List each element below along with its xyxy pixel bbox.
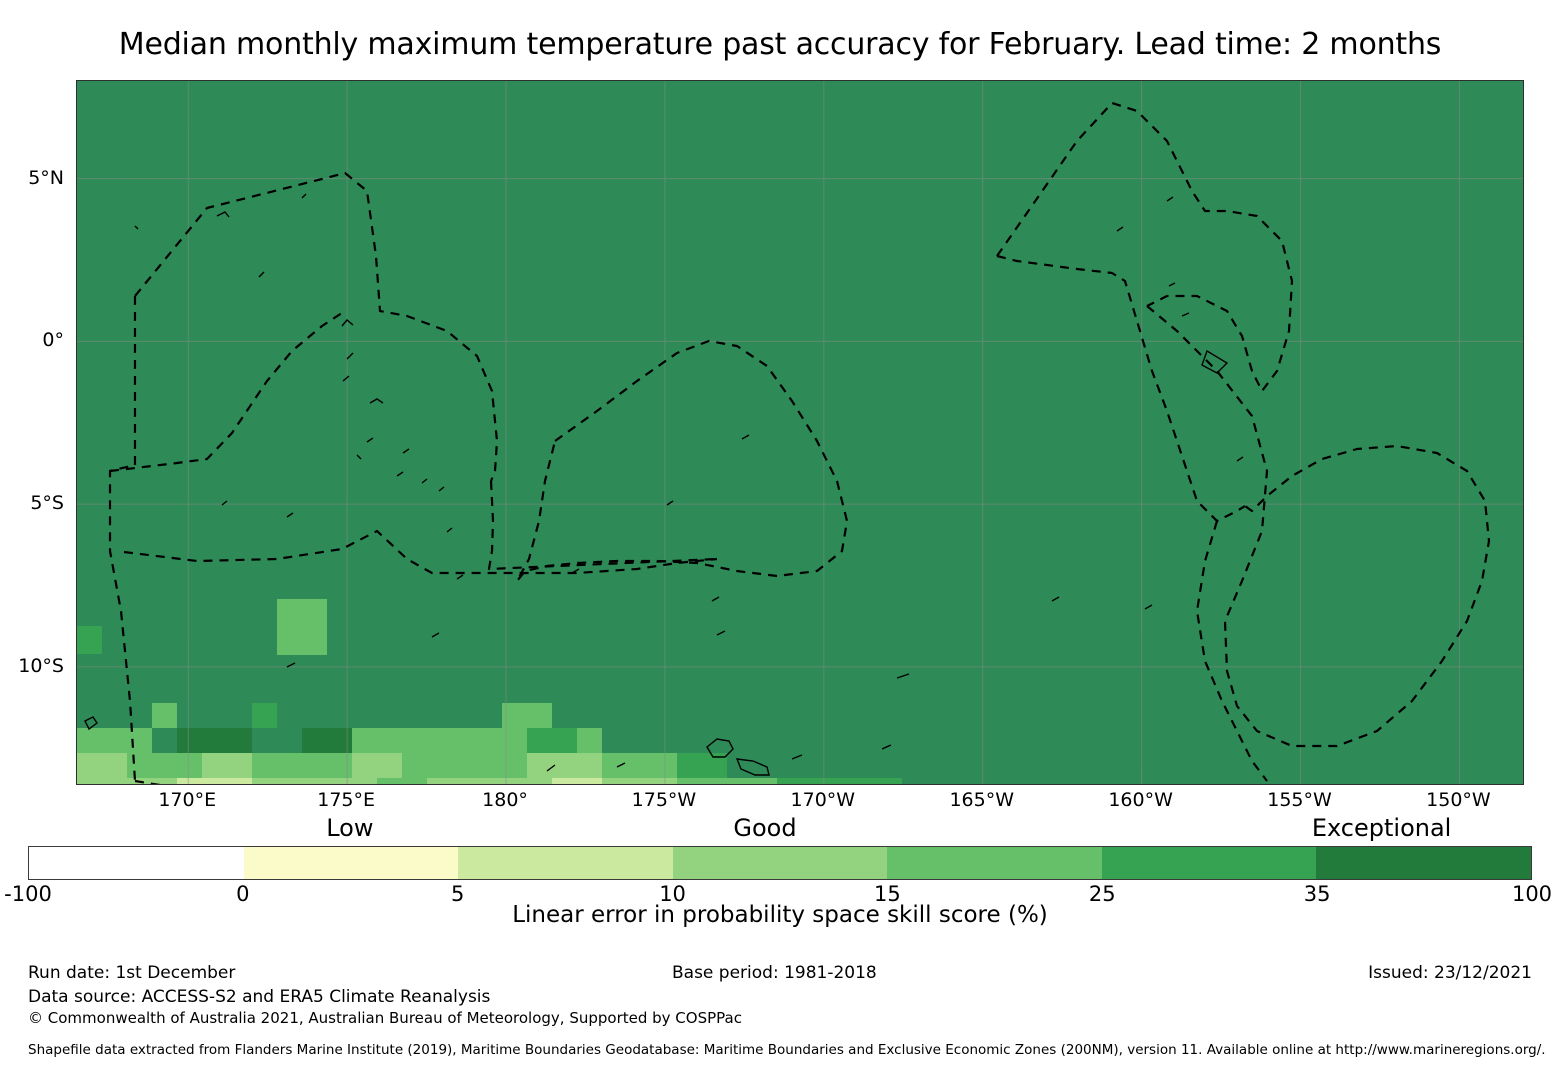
heatmap-cell xyxy=(127,753,202,778)
data-source-text: Data source: ACCESS-S2 and ERA5 Climate … xyxy=(28,987,490,1007)
longitude-tick-label: 160°W xyxy=(1108,789,1173,811)
longitude-tick-label: 150°W xyxy=(1426,789,1491,811)
latitude-tick-label: 0° xyxy=(0,329,64,351)
latitude-tick-label: 5°S xyxy=(0,492,64,514)
heatmap-cell xyxy=(252,778,377,784)
heatmap-cell xyxy=(202,753,252,778)
heatmap-cell xyxy=(777,778,902,784)
colorbar-segment xyxy=(887,847,1102,879)
page-title: Median monthly maximum temperature past … xyxy=(0,27,1560,62)
heatmap-cell xyxy=(252,703,277,728)
base-period-text: Base period: 1981-2018 xyxy=(672,963,877,983)
heatmap-cell xyxy=(377,778,427,784)
longitude-tick-label: 165°W xyxy=(949,789,1014,811)
colorbar-segment xyxy=(29,847,244,879)
heatmap-cell xyxy=(352,753,402,778)
longitude-tick-label: 175°W xyxy=(632,789,697,811)
heatmap-cell xyxy=(677,778,777,784)
heatmap-cell xyxy=(277,599,327,655)
colorbar-segment xyxy=(244,847,459,879)
heatmap-cell xyxy=(352,728,527,753)
heatmap-cell xyxy=(552,778,602,784)
colorbar-category-label: Low xyxy=(326,814,373,842)
longitude-tick-label: 155°W xyxy=(1267,789,1332,811)
longitude-tick-label: 170°E xyxy=(158,789,216,811)
heatmap-cell xyxy=(77,626,102,654)
colorbar-axis-label: Linear error in probability space skill … xyxy=(0,902,1560,928)
shapefile-attribution-text: Shapefile data extracted from Flanders M… xyxy=(28,1042,1546,1058)
copyright-text: © Commonwealth of Australia 2021, Austra… xyxy=(28,1009,742,1027)
colorbar-category-label: Exceptional xyxy=(1312,814,1452,842)
colorbar-category-label: Good xyxy=(733,814,796,842)
heatmap-cell xyxy=(402,753,527,778)
colorbar-segment xyxy=(458,847,673,879)
latitude-tick-label: 10°S xyxy=(0,655,64,677)
colorbar-segment xyxy=(1316,847,1531,879)
colorbar[interactable] xyxy=(28,846,1532,880)
heatmap-cell xyxy=(602,778,677,784)
heatmap-cell xyxy=(577,728,602,753)
heatmap-cell xyxy=(77,778,177,784)
map-plot-area[interactable] xyxy=(76,80,1524,785)
run-date-text: Run date: 1st December xyxy=(28,963,235,983)
longitude-tick-label: 175°E xyxy=(317,789,375,811)
heatmap-cell xyxy=(77,753,127,778)
heatmap-cell xyxy=(602,753,677,778)
longitude-tick-label: 180° xyxy=(482,789,528,811)
heatmap-cell xyxy=(152,703,177,728)
heatmap-cell xyxy=(527,753,602,778)
longitude-tick-label: 170°W xyxy=(791,789,856,811)
map-canvas xyxy=(77,81,1523,784)
colorbar-container[interactable]: -1000510152535100 LowGoodExceptional xyxy=(28,846,1532,880)
heatmap-cell xyxy=(77,728,152,753)
heatmap-cell xyxy=(302,728,352,753)
heatmap-cell xyxy=(427,778,552,784)
colorbar-segment xyxy=(673,847,888,879)
heatmap-cell xyxy=(502,703,552,728)
issued-date-text: Issued: 23/12/2021 xyxy=(1368,963,1532,983)
latitude-tick-label: 5°N xyxy=(0,167,64,189)
heatmap-cell xyxy=(252,753,352,778)
colorbar-segment xyxy=(1102,847,1317,879)
heatmap-cell xyxy=(527,728,577,753)
